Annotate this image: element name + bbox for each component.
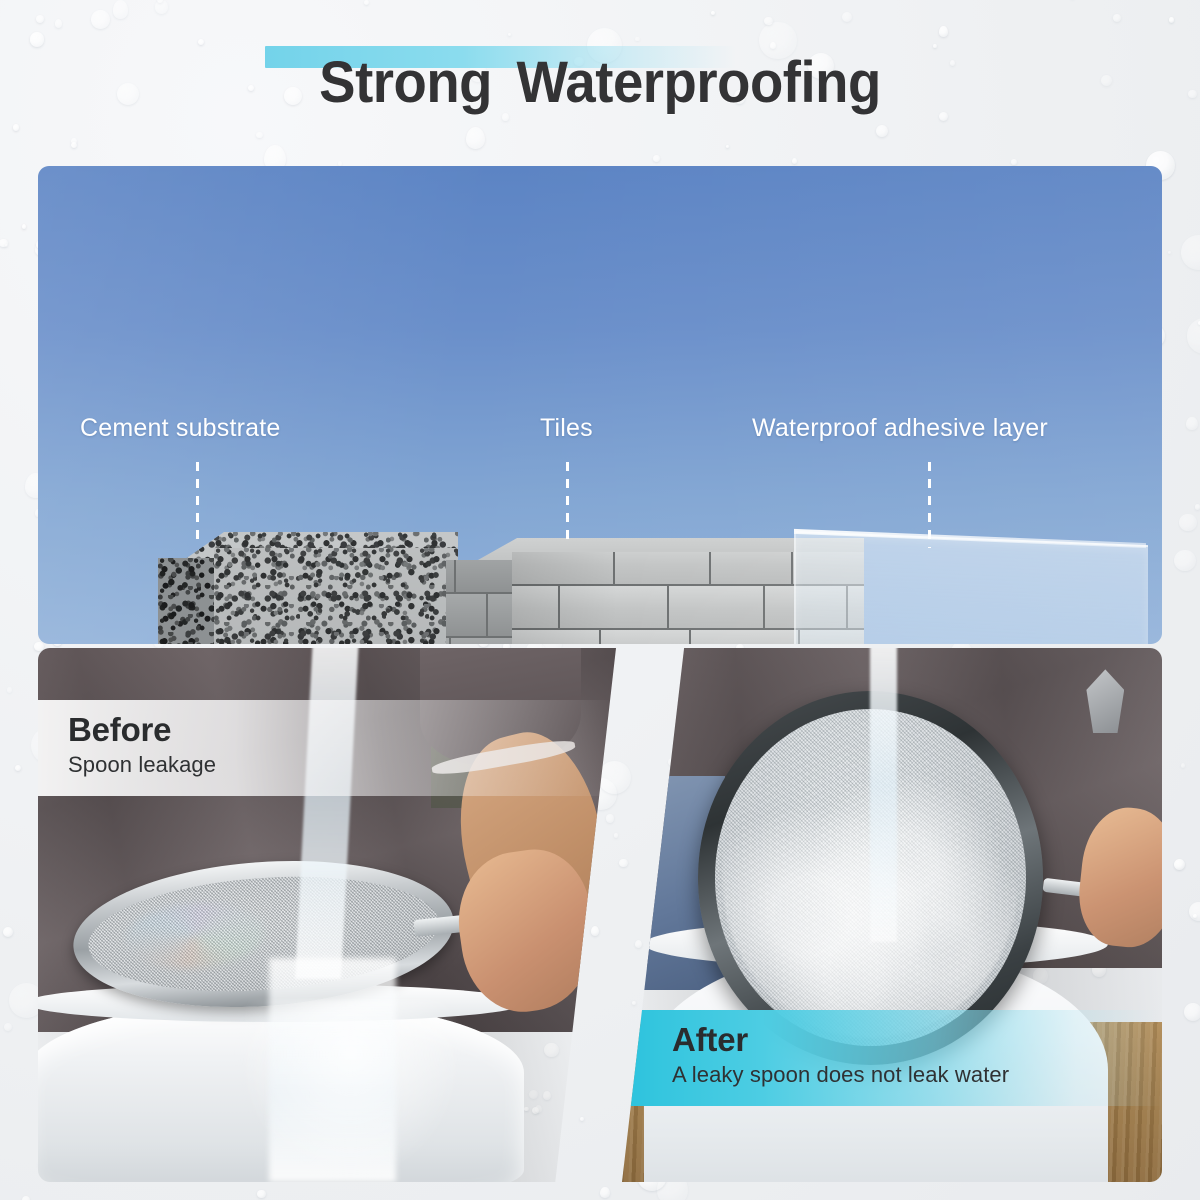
water-droplet	[653, 155, 660, 162]
tile-brick	[451, 638, 518, 644]
water-droplet	[1113, 14, 1121, 22]
leader-line-tiles	[566, 462, 569, 542]
tile-brick-row	[446, 594, 518, 638]
water-droplet	[1174, 550, 1196, 572]
tile-brick	[446, 594, 488, 636]
cement-substrate-block	[158, 532, 458, 644]
before-water-splash	[235, 1000, 466, 1182]
cement-left-pores	[158, 558, 220, 644]
tile-left-face	[446, 560, 518, 644]
page-title-part1: Strong	[319, 50, 492, 115]
water-droplet	[22, 224, 26, 229]
after-caption-band: After A leaky spoon does not leak water	[622, 1010, 1162, 1106]
label-cement-substrate: Cement substrate	[80, 414, 281, 443]
tile-brick-row	[446, 638, 518, 644]
water-droplet	[1181, 235, 1200, 270]
water-droplet	[876, 125, 889, 138]
water-droplet	[55, 19, 62, 27]
water-droplet	[256, 132, 262, 138]
water-droplet	[842, 12, 852, 22]
leader-line-cement	[196, 462, 199, 546]
water-droplet	[1168, 251, 1171, 254]
water-droplet	[91, 10, 110, 29]
waterproofing-diagram-panel: Cement substrate Tiles Waterproof adhesi…	[38, 166, 1162, 644]
water-droplet	[13, 124, 19, 130]
water-droplet	[257, 1190, 266, 1199]
cement-left-face	[158, 558, 220, 644]
water-droplet	[1187, 318, 1200, 354]
water-droplet	[1186, 417, 1198, 431]
cement-shading	[214, 548, 458, 644]
page-header: StrongWaterproofing	[0, 46, 1200, 122]
water-droplet	[1195, 504, 1200, 510]
water-droplet	[1179, 514, 1197, 532]
tile-brick	[456, 560, 518, 592]
before-after-comparison: Before Spoon leakage	[0, 648, 1200, 1182]
cement-front-face	[214, 548, 458, 644]
after-water-stream	[870, 648, 897, 942]
water-droplet	[5, 244, 8, 247]
label-waterproof-adhesive-layer: Waterproof adhesive layer	[752, 414, 1048, 443]
before-subtitle: Spoon leakage	[68, 750, 616, 780]
water-droplet	[36, 15, 44, 23]
water-droplet	[466, 127, 485, 149]
before-title: Before	[68, 710, 616, 750]
water-droplet	[113, 0, 129, 18]
page-title: StrongWaterproofing	[36, 46, 1164, 120]
water-droplet	[764, 17, 773, 26]
water-droplet	[364, 0, 369, 5]
after-subtitle: A leaky spoon does not leak water	[672, 1060, 1162, 1090]
water-droplet	[22, 1196, 31, 1200]
before-photo: Before Spoon leakage	[38, 648, 616, 1182]
tile-brick	[446, 560, 456, 592]
after-photo: After A leaky spoon does not leak water	[622, 648, 1162, 1182]
before-caption-band: Before Spoon leakage	[38, 700, 616, 796]
water-droplet	[711, 11, 715, 15]
water-droplet	[600, 1187, 609, 1198]
tile-brick-row	[446, 560, 518, 594]
water-droplet	[1011, 159, 1016, 164]
page-title-part2: Waterproofing	[516, 50, 880, 115]
water-droplet	[508, 33, 511, 36]
leader-line-membrane	[928, 462, 931, 548]
after-title: After	[672, 1020, 1162, 1060]
before-mesh-strainer	[68, 848, 459, 1018]
water-droplet	[71, 142, 77, 148]
water-droplet	[939, 26, 948, 36]
water-droplet	[198, 39, 204, 45]
water-droplet	[792, 158, 797, 164]
waterproof-membrane-sheet	[794, 531, 1148, 644]
label-tiles: Tiles	[540, 414, 593, 443]
water-droplet	[635, 37, 640, 42]
infographic-page: StrongWaterproofing	[0, 0, 1200, 1200]
water-droplet	[726, 145, 729, 149]
water-droplet	[1169, 17, 1174, 22]
